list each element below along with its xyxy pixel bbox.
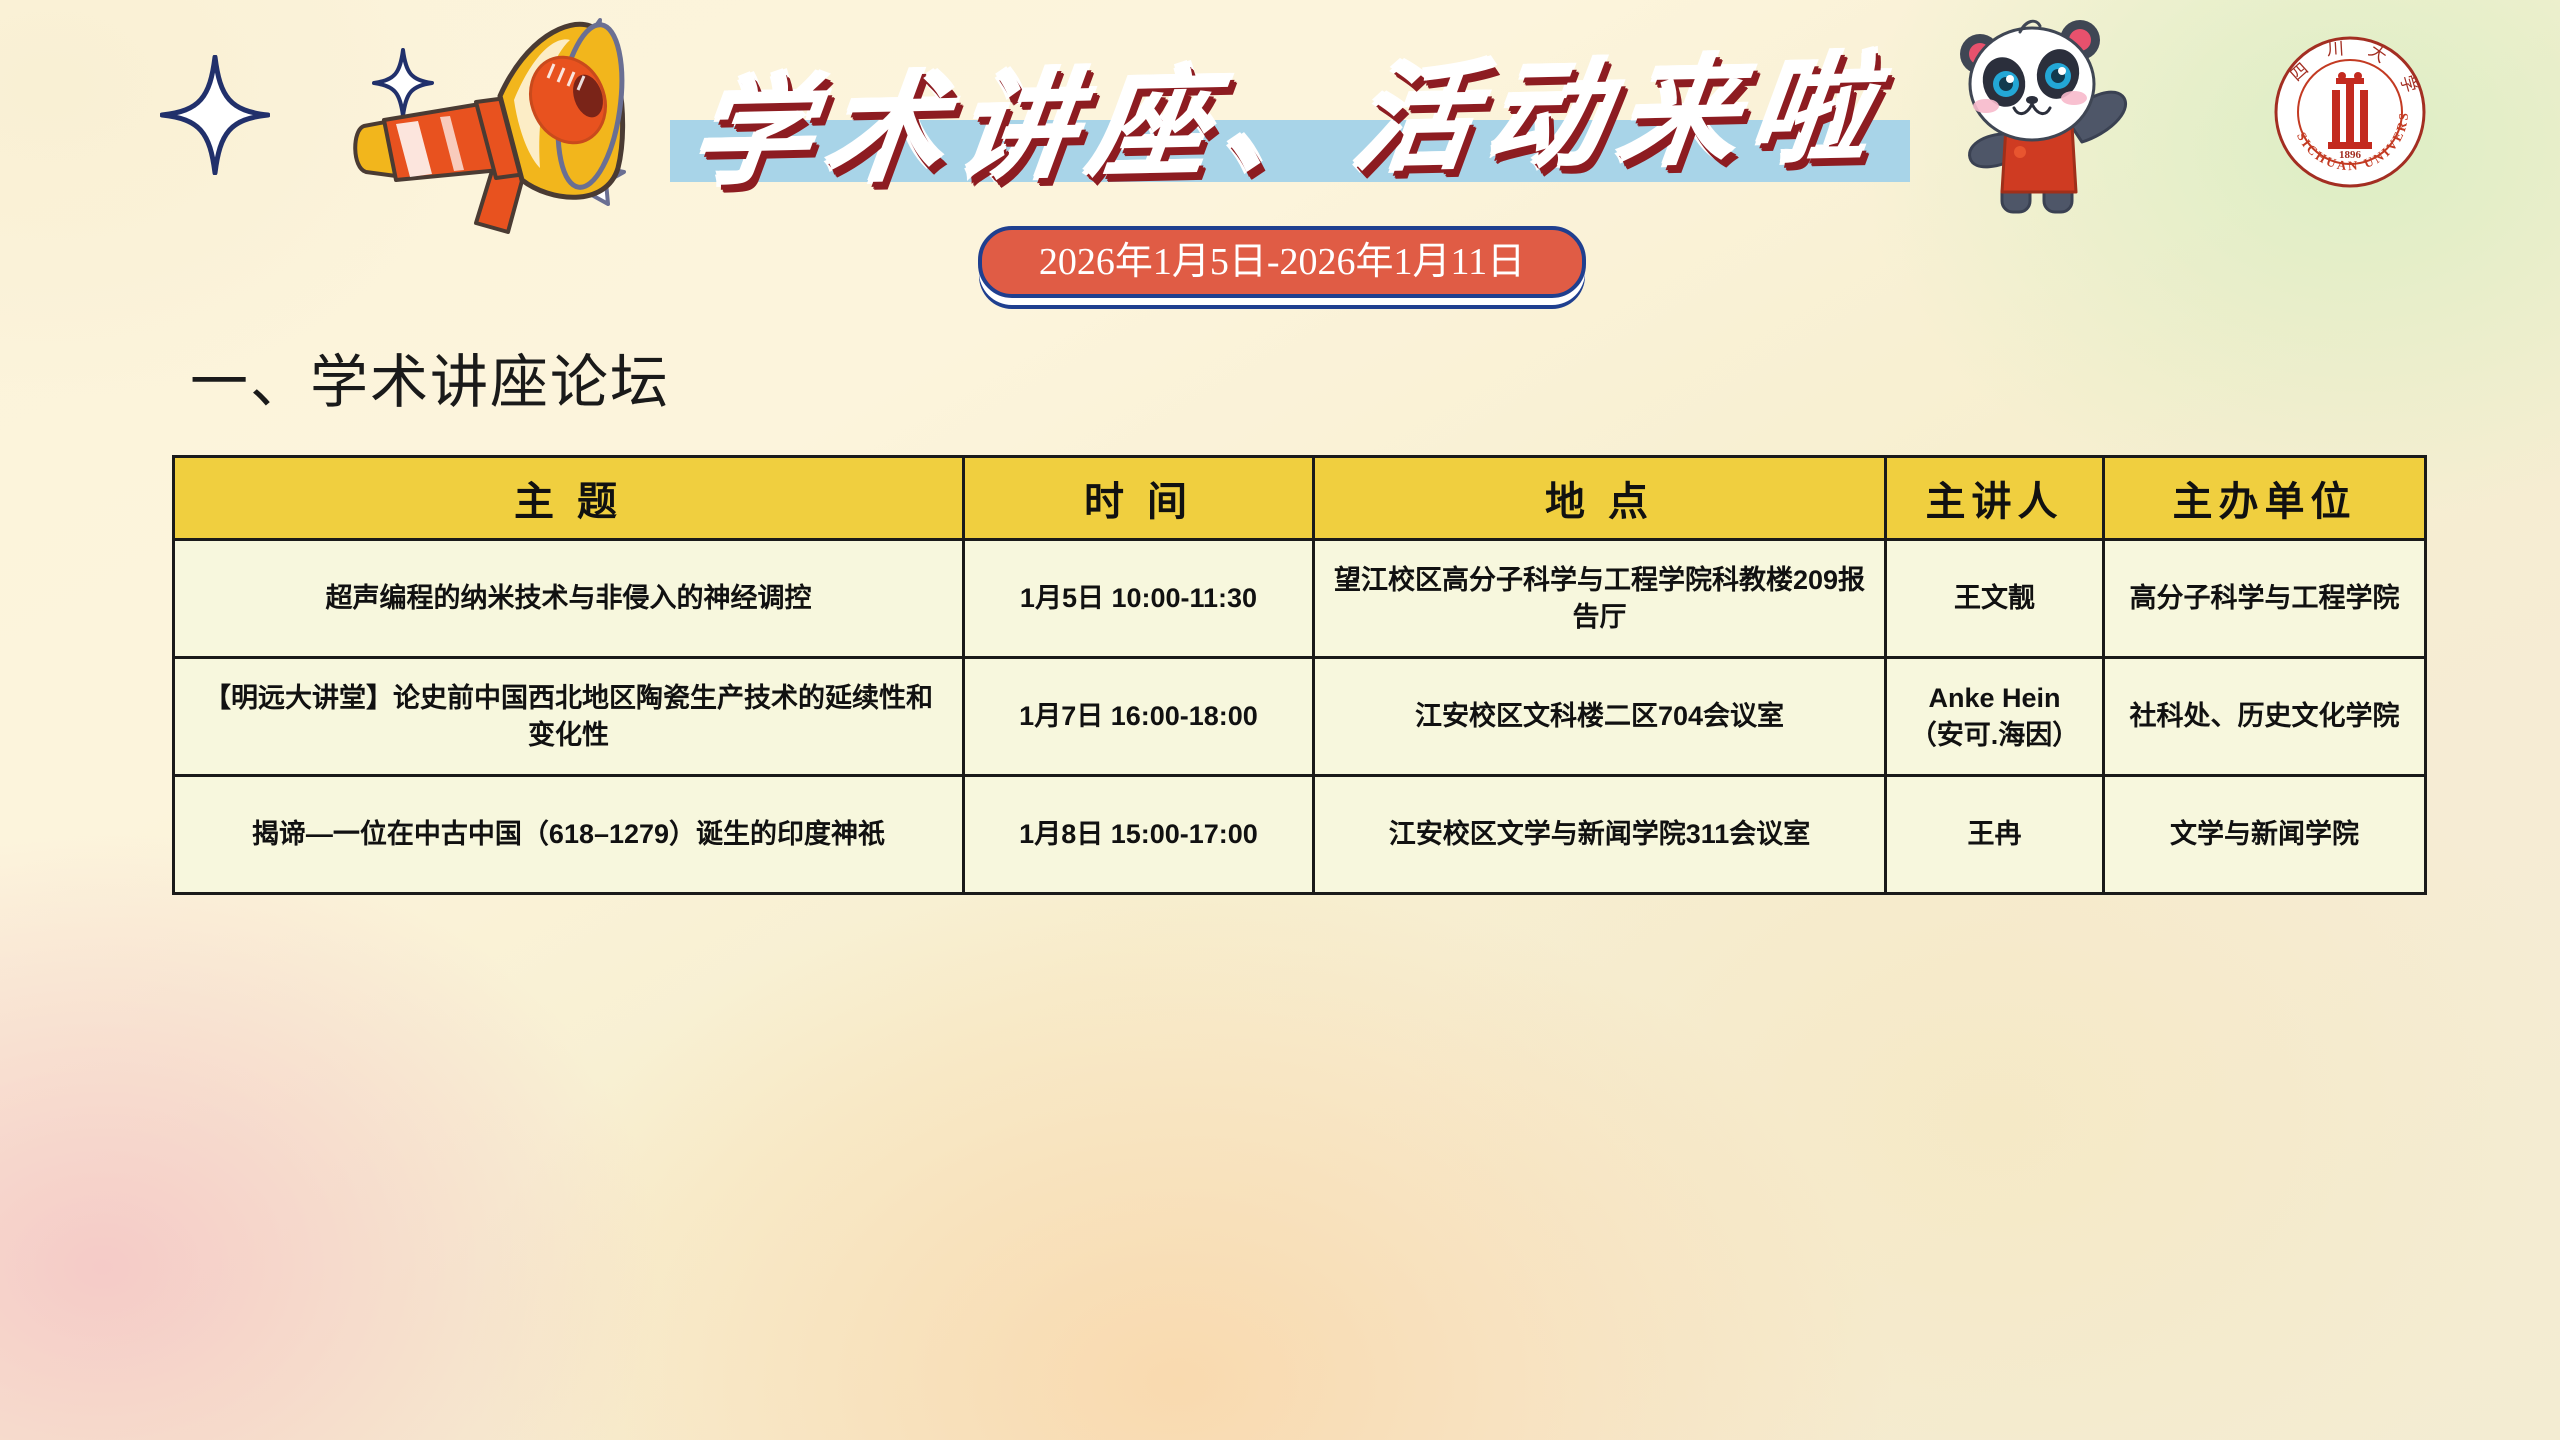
title-text: 学术讲座、活动来啦 [637,7,1942,214]
date-range-badge: 2026年1月5日-2026年1月11日 [978,226,1586,298]
cell-host: 社科处、历史文化学院 [2104,658,2426,776]
sparkle-icon [160,55,270,175]
lecture-schedule-table: 主 题 时 间 地 点 主讲人 主办单位 超声编程的纳米技术与非侵入的神经调控1… [172,455,2427,895]
poster-header: 学术讲座、活动来啦 [0,0,2560,300]
column-header-speaker: 主讲人 [1886,457,2104,540]
cell-host: 高分子科学与工程学院 [2104,540,2426,658]
cell-time: 1月8日 15:00-17:00 [964,776,1314,894]
sichuan-university-logo: 1896 四川大学 SICHUAN UNIVERSITY [2270,32,2430,192]
date-range-text: 2026年1月5日-2026年1月11日 [1039,243,1525,281]
cell-topic: 揭谛—一位在中古中国（618–1279）诞生的印度神祇 [174,776,964,894]
table-header-row: 主 题 时 间 地 点 主讲人 主办单位 [174,457,2426,540]
table-row: 超声编程的纳米技术与非侵入的神经调控1月5日 10:00-11:30望江校区高分… [174,540,2426,658]
panda-mascot-icon [1940,6,2140,221]
cell-speaker: 王文靓 [1886,540,2104,658]
poster-title: 学术讲座、活动来啦 [650,20,1930,200]
section-heading: 一、学术讲座论坛 [190,335,670,419]
table-row: 【明远大讲堂】论史前中国西北地区陶瓷生产技术的延续性和变化性1月7日 16:00… [174,658,2426,776]
cell-speaker: 王冉 [1886,776,2104,894]
cell-place: 江安校区文科楼二区704会议室 [1314,658,1886,776]
cell-topic: 【明远大讲堂】论史前中国西北地区陶瓷生产技术的延续性和变化性 [174,658,964,776]
cell-time: 1月7日 16:00-18:00 [964,658,1314,776]
table-body: 超声编程的纳米技术与非侵入的神经调控1月5日 10:00-11:30望江校区高分… [174,540,2426,894]
column-header-time: 时 间 [964,457,1314,540]
cell-place: 江安校区文学与新闻学院311会议室 [1314,776,1886,894]
column-header-host: 主办单位 [2104,457,2426,540]
column-header-topic: 主 题 [174,457,964,540]
cell-time: 1月5日 10:00-11:30 [964,540,1314,658]
cell-host: 文学与新闻学院 [2104,776,2426,894]
poster-canvas: 学术讲座、活动来啦 [0,0,2560,1440]
cell-speaker: Anke Hein（安可.海因） [1886,658,2104,776]
column-header-place: 地 点 [1314,457,1886,540]
cell-place: 望江校区高分子科学与工程学院科教楼209报告厅 [1314,540,1886,658]
table-row: 揭谛—一位在中古中国（618–1279）诞生的印度神祇1月8日 15:00-17… [174,776,2426,894]
cell-topic: 超声编程的纳米技术与非侵入的神经调控 [174,540,964,658]
